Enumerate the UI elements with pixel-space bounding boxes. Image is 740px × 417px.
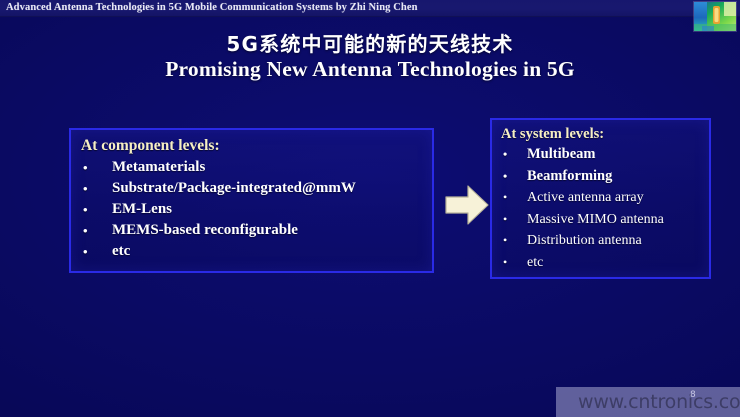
bullet-icon: •: [503, 230, 507, 252]
list-item: • etc: [81, 241, 432, 262]
list-item-label: MEMS-based reconfigurable: [112, 222, 298, 238]
component-levels-box: At component levels: • Metamaterials • S…: [69, 128, 434, 273]
bullet-icon: •: [83, 157, 88, 178]
component-levels-heading: At component levels:: [81, 137, 432, 155]
list-item-label: Multibeam: [527, 146, 595, 162]
list-item-label: etc: [112, 243, 130, 259]
bullet-icon: •: [503, 166, 507, 188]
list-item: • Substrate/Package-integrated@mmW: [81, 178, 432, 199]
list-item: • Active antenna array: [501, 187, 709, 209]
list-item-label: Metamaterials: [112, 159, 205, 175]
list-item: • Beamforming: [501, 166, 709, 188]
list-item-label: Beamforming: [527, 168, 612, 184]
component-levels-list: • Metamaterials • Substrate/Package-inte…: [71, 157, 432, 262]
list-item: • Massive MIMO antenna: [501, 209, 709, 231]
list-item: • etc: [501, 252, 709, 274]
slide-header-bar: Advanced Antenna Technologies in 5G Mobi…: [0, 0, 740, 17]
bullet-icon: •: [83, 178, 88, 199]
list-item-label: Distribution antenna: [527, 233, 642, 248]
bullet-icon: •: [503, 144, 507, 166]
bullet-icon: •: [503, 209, 507, 231]
system-levels-heading: At system levels:: [501, 126, 709, 143]
list-item-label: Massive MIMO antenna: [527, 212, 664, 227]
presentation-title: Advanced Antenna Technologies in 5G Mobi…: [6, 2, 418, 13]
list-item-label: Active antenna array: [527, 190, 644, 205]
list-item: • MEMS-based reconfigurable: [81, 220, 432, 241]
page-number: 8: [690, 390, 696, 400]
system-levels-list: • Multibeam • Beamforming • Active anten…: [492, 144, 709, 273]
list-item: • Multibeam: [501, 144, 709, 166]
presentation-slide: Advanced Antenna Technologies in 5G Mobi…: [0, 0, 740, 417]
slide-title-english: Promising New Antenna Technologies in 5G: [0, 57, 740, 82]
list-item-label: EM-Lens: [112, 201, 172, 217]
bullet-icon: •: [83, 220, 88, 241]
watermark-url: www.cntronics.com: [578, 391, 740, 413]
list-item-label: etc: [527, 255, 543, 270]
bullet-icon: •: [83, 241, 88, 262]
bullet-icon: •: [503, 187, 507, 209]
list-item: • Metamaterials: [81, 157, 432, 178]
list-item: • Distribution antenna: [501, 230, 709, 252]
slide-title-chinese: 5G系统中可能的新的天线技术: [0, 28, 740, 57]
bullet-icon: •: [503, 252, 507, 274]
right-block-arrow-icon: [444, 183, 490, 227]
system-levels-box: At system levels: • Multibeam • Beamform…: [490, 118, 711, 279]
list-item: • EM-Lens: [81, 199, 432, 220]
list-item-label: Substrate/Package-integrated@mmW: [112, 180, 356, 196]
bullet-icon: •: [83, 199, 88, 220]
